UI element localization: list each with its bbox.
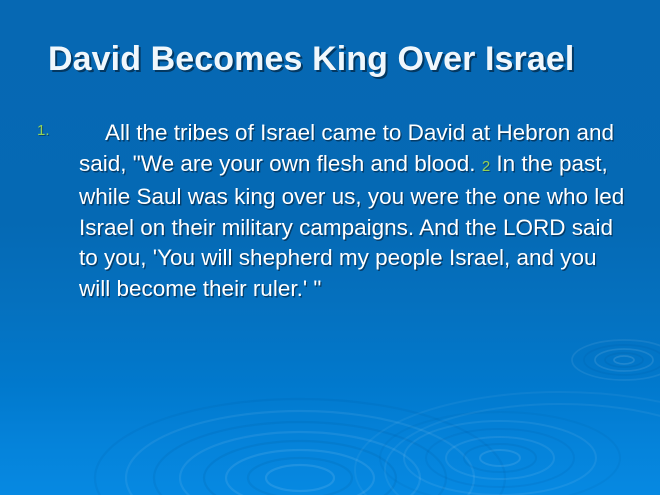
- ripple-large: [95, 399, 505, 495]
- slide-body: 1. All the tribes of Israel came to Davi…: [33, 118, 625, 305]
- slide-title: David Becomes King Over Israel: [48, 40, 628, 79]
- presentation-slide: David Becomes King Over Israel 1. All th…: [0, 0, 660, 495]
- ripple-small: [572, 340, 660, 380]
- list-item-number: 1.: [37, 121, 50, 141]
- verse-number: 2: [482, 158, 490, 175]
- ripple-medium: [380, 412, 620, 495]
- list-item: 1. All the tribes of Israel came to Davi…: [33, 118, 625, 305]
- ripple-arcs: [355, 392, 660, 495]
